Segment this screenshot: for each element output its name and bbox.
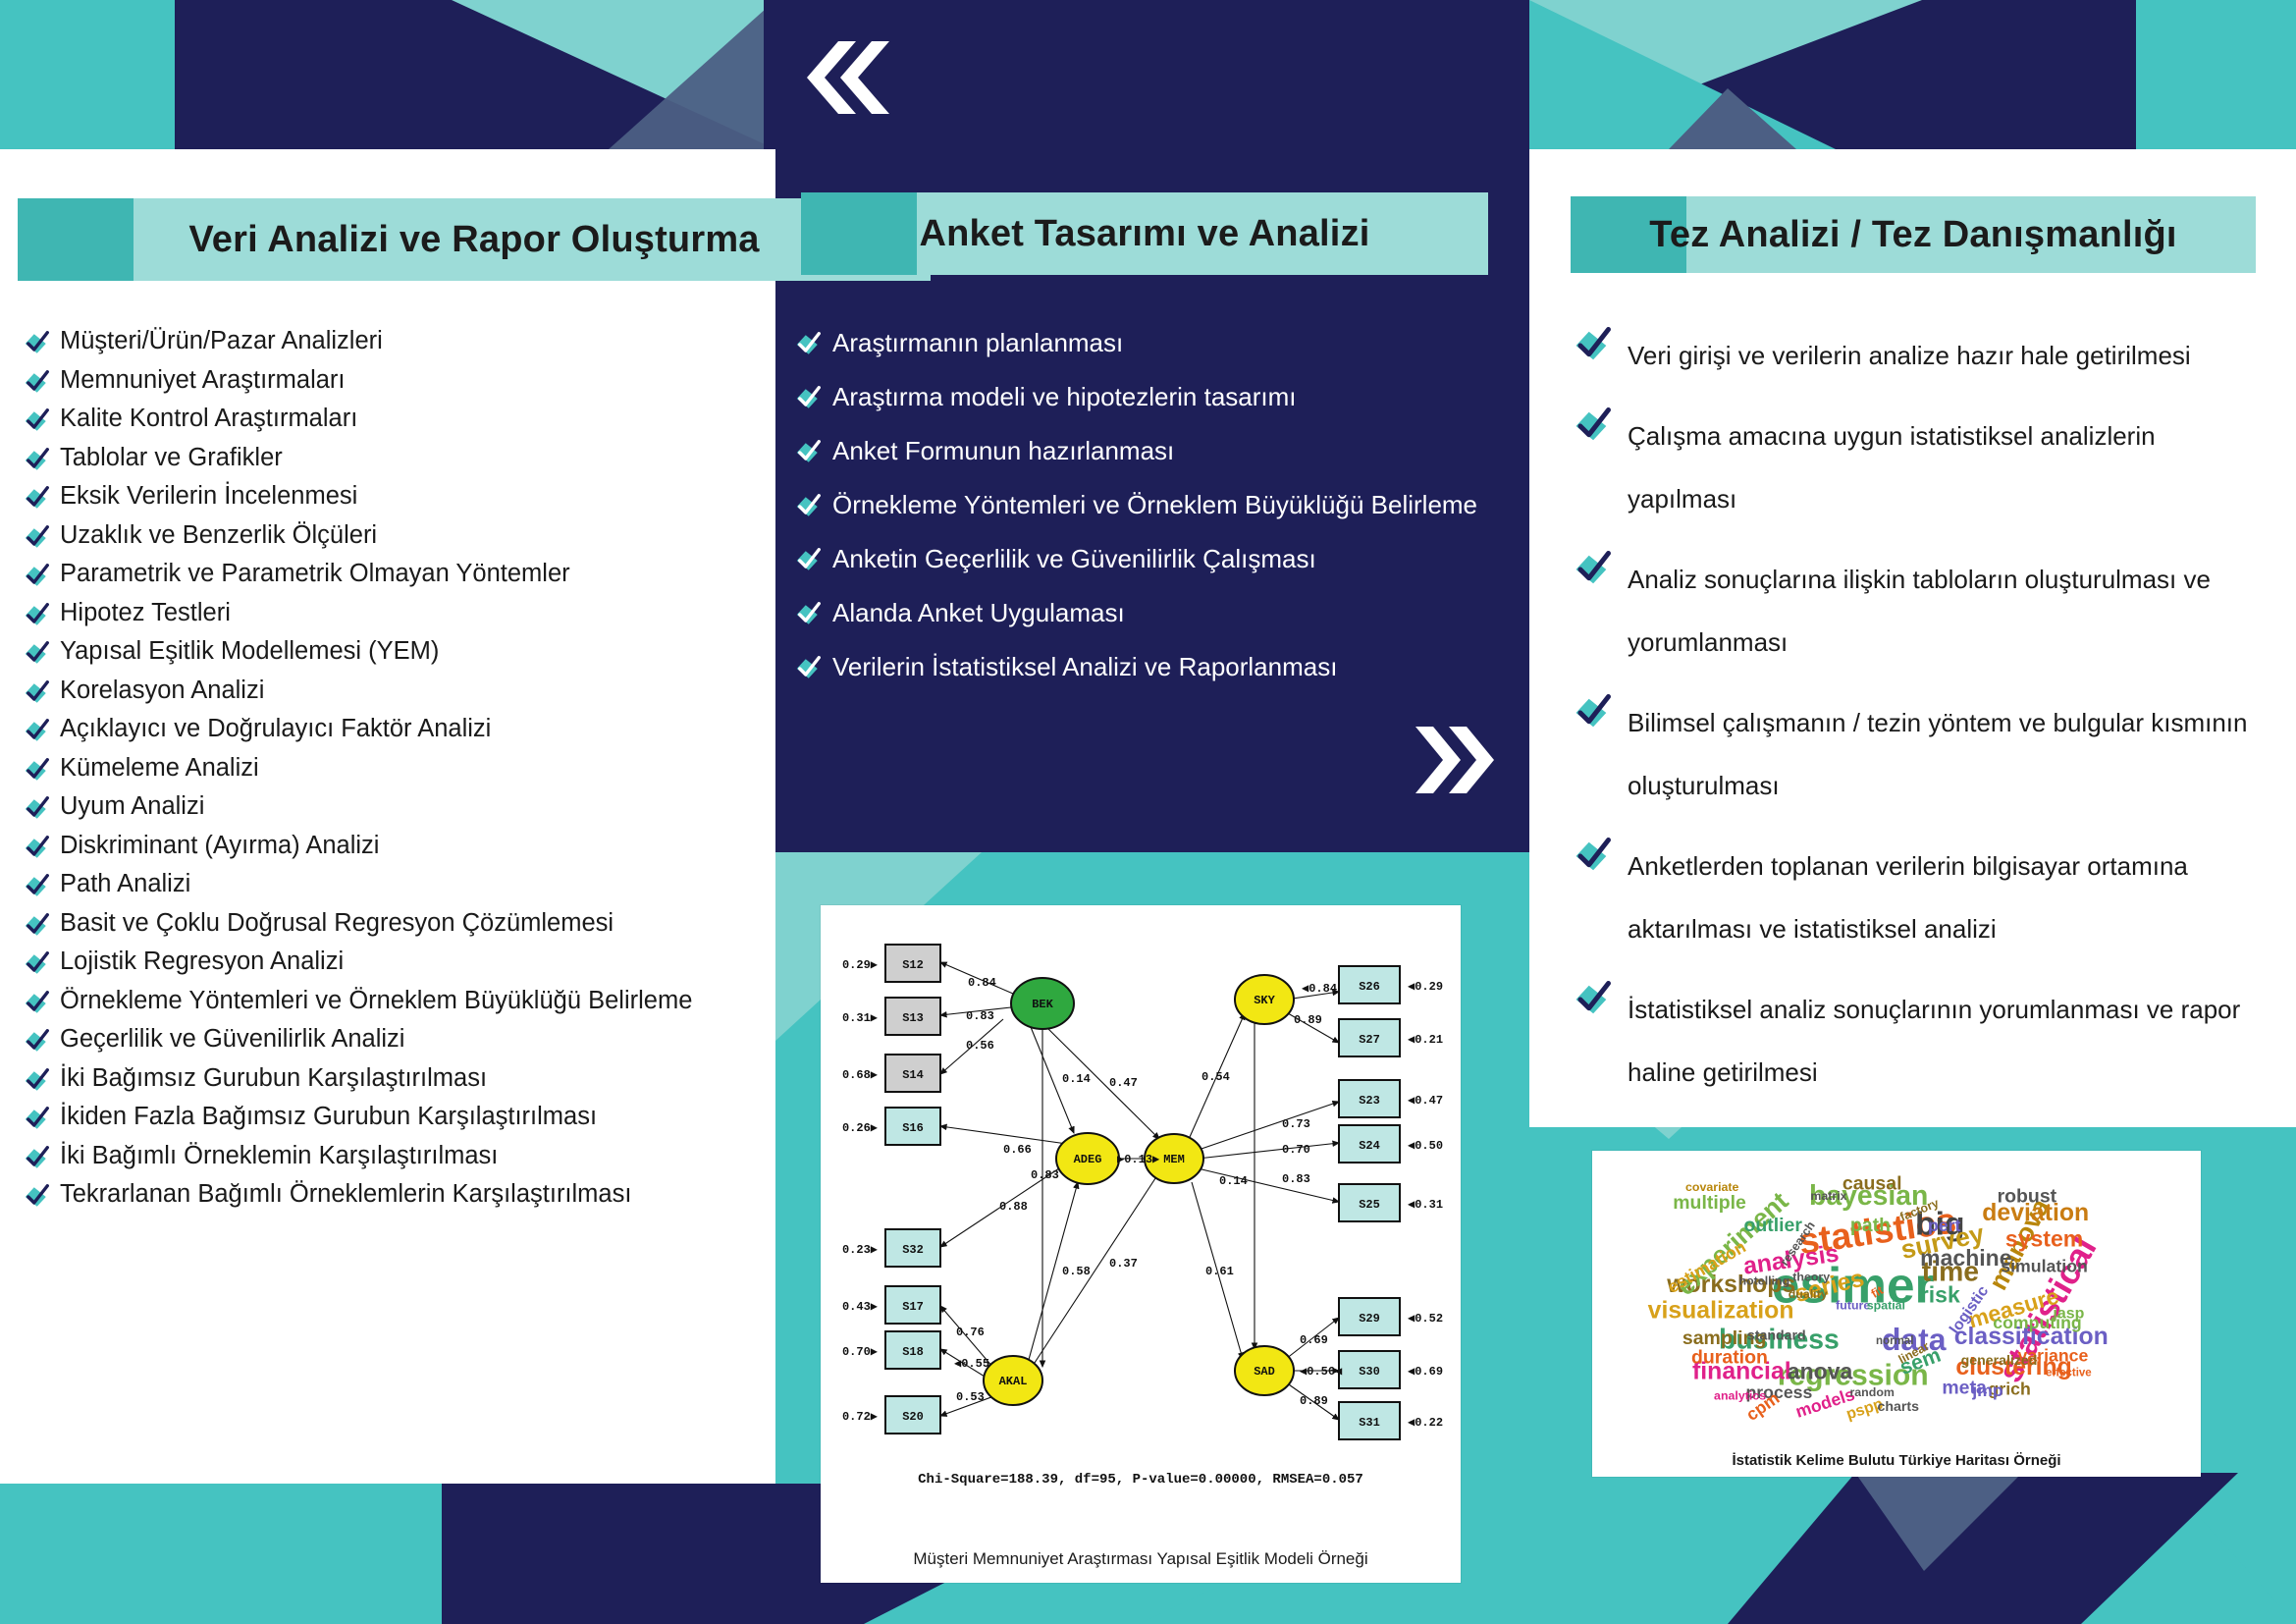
check-icon <box>793 385 823 412</box>
list-item-label: Yapısal Eşitlik Modellemesi (YEM) <box>60 637 439 665</box>
word-cloud-word: hotelling <box>1739 1274 1790 1288</box>
list-anket-tasarimi: Araştırmanın planlanmasıAraştırma modeli… <box>793 328 1500 706</box>
list-item-label: Müşteri/Ürün/Pazar Analizleri <box>60 327 383 354</box>
list-item[interactable]: Path Analizi <box>22 870 768 900</box>
sem-error-value: 0.43▶ <box>842 1300 879 1314</box>
list-item[interactable]: Parametrik ve Parametrik Olmayan Yönteml… <box>22 560 768 590</box>
sem-coefficient: 0.76 <box>956 1326 985 1339</box>
list-item-label: Geçerlilik ve Güvenilirlik Analizi <box>60 1025 404 1053</box>
check-icon <box>793 547 823 574</box>
check-icon <box>22 407 51 435</box>
column-title: Veri Analizi ve Rapor Oluşturma <box>18 219 931 261</box>
word-cloud-word: simulation <box>2001 1256 2088 1275</box>
word-cloud-word: visualization <box>1648 1297 1794 1324</box>
check-icon <box>1571 326 1614 365</box>
list-tez-analizi: Veri girişi ve verilerin analize hazır h… <box>1571 324 2258 1121</box>
check-icon <box>793 439 823 466</box>
sem-figure-caption: Müşteri Memnuniyet Araştırması Yapısal E… <box>821 1549 1461 1569</box>
sem-diagram-figure: S12 S13 S14 S16 S32 S17 S18 S20 S26 S27 … <box>821 905 1461 1583</box>
svg-text:SAD: SAD <box>1254 1365 1275 1379</box>
check-icon <box>22 1067 51 1095</box>
word-cloud-word: system <box>2005 1226 2083 1252</box>
sem-coefficient: ◀0.55 <box>954 1357 989 1371</box>
check-icon <box>1571 693 1614 732</box>
list-item[interactable]: Çalışma amacına uygun istatistiksel anal… <box>1571 405 2258 530</box>
check-icon <box>22 912 51 940</box>
list-item-label: Analiz sonuçlarına ilişkin tabloların ol… <box>1628 548 2258 674</box>
sem-error-value: ◀0.31 <box>1408 1198 1443 1212</box>
list-item-label: Uyum Analizi <box>60 792 204 820</box>
list-item-label: Kümeleme Analizi <box>60 754 259 782</box>
svg-text:BEK: BEK <box>1032 998 1053 1011</box>
sem-coefficient: 0.83 <box>966 1009 994 1023</box>
list-item-label: Kalite Kontrol Araştırmaları <box>60 405 357 432</box>
word-cloud-word: spatial <box>1867 1299 1905 1313</box>
sem-error-value: ◀0.52 <box>1408 1312 1443 1326</box>
word-cloud-word: risk <box>1920 1281 1960 1307</box>
check-icon <box>22 1106 51 1133</box>
check-icon <box>22 835 51 862</box>
check-icon <box>22 563 51 590</box>
sem-coefficient: 0.69 <box>1300 1333 1328 1347</box>
list-item-label: Alanda Anket Uygulaması <box>832 598 1125 627</box>
column-title: Tez Analizi / Tez Danışmanlığı <box>1571 214 2256 256</box>
word-cloud-word: duration <box>1691 1346 1768 1368</box>
sem-coefficient: 0.47 <box>1109 1076 1138 1090</box>
check-icon <box>793 331 823 358</box>
list-item-label: Anket Formunun hazırlanması <box>832 436 1174 465</box>
sem-error-value: 0.23▶ <box>842 1243 879 1257</box>
sem-coefficient: 0.53 <box>956 1390 985 1404</box>
word-cloud-word: charts <box>1878 1399 1920 1415</box>
check-icon <box>22 1028 51 1056</box>
sem-coefficient: 0.14 <box>1219 1174 1248 1188</box>
check-icon <box>22 524 51 552</box>
sem-error-value: 0.68▶ <box>842 1068 879 1082</box>
check-icon <box>22 640 51 668</box>
sem-coefficient: 0.61 <box>1205 1265 1234 1278</box>
sem-indicator-label: S31 <box>1359 1416 1380 1430</box>
list-item[interactable]: Uzaklık ve Benzerlik Ölçüleri <box>22 521 768 552</box>
sem-indicator-label: S24 <box>1359 1139 1380 1153</box>
sem-coefficient: 0.66 <box>1003 1143 1032 1157</box>
word-cloud-word: analytics <box>1714 1389 1766 1403</box>
sem-indicator-label: S13 <box>902 1011 924 1025</box>
check-icon <box>22 679 51 707</box>
word-cloud-canvas: esimerstatisticsstatisticalbigbayesianda… <box>1592 1151 2201 1445</box>
sem-error-value: ◀0.47 <box>1408 1094 1443 1108</box>
word-cloud-word: duality <box>1789 1287 1828 1301</box>
sem-diagram-canvas: S12 S13 S14 S16 S32 S17 S18 S20 S26 S27 … <box>821 905 1461 1534</box>
column-header-veri-analizi: Veri Analizi ve Rapor Oluşturma <box>18 198 931 281</box>
list-item[interactable]: Tablolar ve Grafikler <box>22 444 768 474</box>
list-item[interactable]: Veri girişi ve verilerin analize hazır h… <box>1571 324 2258 387</box>
list-item-label: Araştırmanın planlanması <box>832 328 1123 357</box>
sem-indicator-label: S29 <box>1359 1312 1380 1326</box>
svg-text:ADEG: ADEG <box>1074 1153 1102 1166</box>
list-item[interactable]: Açıklayıcı ve Doğrulayıcı Faktör Analizi <box>22 715 768 745</box>
svg-text:AKAL: AKAL <box>999 1375 1028 1388</box>
sem-coefficient: 0.14 <box>1062 1072 1091 1086</box>
sem-error-value: ◀0.69 <box>1408 1365 1443 1379</box>
list-item[interactable]: İkiden Fazla Bağımsız Gurubun Karşılaştı… <box>22 1103 768 1133</box>
check-icon <box>22 1145 51 1172</box>
check-icon <box>22 330 51 357</box>
sem-coefficient: 0.89 <box>1300 1394 1328 1408</box>
word-cloud-word: pert <box>1928 1216 1961 1235</box>
column-header-anket-tasarimi: Anket Tasarımı ve Analizi <box>801 192 1488 275</box>
sem-error-value: ◀0.22 <box>1408 1416 1443 1430</box>
double-chevron-right-icon <box>1412 725 1500 795</box>
list-item-label: Basit ve Çoklu Doğrusal Regresyon Çözüml… <box>60 909 614 937</box>
sem-indicator-label: S25 <box>1359 1198 1380 1212</box>
sem-coefficient: 0.88 <box>999 1200 1028 1214</box>
list-item-label: Tekrarlanan Bağımlı Örneklemlerin Karşıl… <box>60 1180 631 1208</box>
sem-coefficient: 0.89 <box>1294 1013 1322 1027</box>
list-item[interactable]: Diskriminant (Ayırma) Analizi <box>22 832 768 862</box>
sem-error-value: 0.70▶ <box>842 1345 879 1359</box>
sem-coefficient: 0.73 <box>1282 1117 1310 1131</box>
word-cloud-word: effective <box>2046 1368 2092 1380</box>
list-item-label: Araştırma modeli ve hipotezlerin tasarım… <box>832 382 1297 411</box>
sem-coefficient: 0.70 <box>1282 1143 1310 1157</box>
sem-coefficient: ◀0.56◀ <box>1300 1365 1343 1379</box>
list-item-label: Örnekleme Yöntemleri ve Örneklem Büyüklü… <box>832 490 1477 519</box>
list-item[interactable]: İki Bağımsız Gurubun Karşılaştırılması <box>22 1064 768 1095</box>
list-item-label: Lojistik Regresyon Analizi <box>60 947 344 975</box>
word-cloud-word: multiple <box>1673 1192 1746 1214</box>
sem-coefficient: 0.37 <box>1109 1257 1138 1271</box>
svg-text:MEM: MEM <box>1163 1153 1185 1166</box>
check-icon <box>1571 980 1614 1019</box>
check-icon <box>22 485 51 513</box>
list-item-label: Korelasyon Analizi <box>60 677 264 704</box>
check-icon <box>1571 406 1614 446</box>
sem-indicator-label: S32 <box>902 1243 924 1257</box>
list-item[interactable]: Tekrarlanan Bağımlı Örneklemlerin Karşıl… <box>22 1180 768 1211</box>
list-item-label: Eksik Verilerin İncelenmesi <box>60 482 357 510</box>
sem-indicator-label: S30 <box>1359 1365 1380 1379</box>
word-cloud-word: causal <box>1842 1172 1902 1194</box>
list-item[interactable]: Eksik Verilerin İncelenmesi <box>22 482 768 513</box>
word-cloud-word: outlier <box>1743 1215 1802 1236</box>
list-item-label: Path Analizi <box>60 870 190 897</box>
list-item[interactable]: Anketin Geçerlilik ve Güvenilirlik Çalış… <box>793 544 1500 574</box>
check-icon <box>22 757 51 785</box>
sem-indicator-label: S14 <box>902 1068 924 1082</box>
sem-indicator-label: S20 <box>902 1410 924 1424</box>
list-item[interactable]: İstatistiksel analiz sonuçlarının yoruml… <box>1571 978 2258 1104</box>
sem-error-value: ◀0.21 <box>1408 1033 1443 1047</box>
list-item-label: Anketlerden toplanan verilerin bilgisaya… <box>1628 835 2258 960</box>
check-icon <box>22 950 51 978</box>
list-item[interactable]: Memnuniyet Araştırmaları <box>22 366 768 397</box>
sem-indicator-label: S17 <box>902 1300 924 1314</box>
sem-coefficient: 0.83 <box>1031 1168 1059 1182</box>
list-item-label: Bilimsel çalışmanın / tezin yöntem ve bu… <box>1628 691 2258 817</box>
list-item-label: Anketin Geçerlilik ve Güvenilirlik Çalış… <box>832 544 1316 573</box>
sem-indicator-label: S12 <box>902 958 924 972</box>
list-item[interactable]: Araştırma modeli ve hipotezlerin tasarım… <box>793 382 1500 412</box>
check-icon <box>22 718 51 745</box>
word-cloud-word: theory <box>1792 1270 1830 1283</box>
list-item-label: Memnuniyet Araştırmaları <box>60 366 346 394</box>
sem-coefficient: ▶0.13▶ <box>1117 1153 1160 1166</box>
list-item[interactable]: Örnekleme Yöntemleri ve Örneklem Büyüklü… <box>793 490 1500 520</box>
check-icon <box>1571 837 1614 876</box>
sem-error-value: 0.29▶ <box>842 958 879 972</box>
check-icon <box>22 1183 51 1211</box>
list-item-label: İstatistiksel analiz sonuçlarının yoruml… <box>1628 978 2258 1104</box>
list-item-label: Açıklayıcı ve Doğrulayıcı Faktör Analizi <box>60 715 491 742</box>
list-item-label: Parametrik ve Parametrik Olmayan Yönteml… <box>60 560 570 587</box>
list-item[interactable]: Kalite Kontrol Araştırmaları <box>22 405 768 435</box>
list-item-label: Tablolar ve Grafikler <box>60 444 283 471</box>
sem-coefficient: 0.84 <box>968 976 996 990</box>
word-cloud-figure: esimerstatisticsstatisticalbigbayesianda… <box>1592 1151 2201 1477</box>
check-icon <box>22 873 51 900</box>
sem-indicator-label: S27 <box>1359 1033 1380 1047</box>
list-item[interactable]: Basit ve Çoklu Doğrusal Regresyon Çözüml… <box>22 909 768 940</box>
list-veri-analizi: Müşteri/Ürün/Pazar AnalizleriMemnuniyet … <box>22 327 768 1219</box>
list-item[interactable]: Geçerlilik ve Güvenilirlik Analizi <box>22 1025 768 1056</box>
top-right-teal-edge <box>2136 0 2296 149</box>
list-item[interactable]: Kümeleme Analizi <box>22 754 768 785</box>
list-item[interactable]: Uyum Analizi <box>22 792 768 823</box>
sem-coefficient: 0.54 <box>1201 1070 1230 1084</box>
list-item-label: Verilerin İstatistiksel Analizi ve Rapor… <box>832 652 1337 681</box>
list-item[interactable]: Yapısal Eşitlik Modellemesi (YEM) <box>22 637 768 668</box>
list-item-label: Örnekleme Yöntemleri ve Örneklem Büyüklü… <box>60 987 692 1014</box>
sem-fit-statistics: Chi-Square=188.39, df=95, P-value=0.0000… <box>918 1472 1363 1488</box>
sem-error-value: ◀0.29 <box>1408 980 1443 994</box>
sem-coefficient: 0.56 <box>966 1039 994 1053</box>
check-icon <box>22 990 51 1017</box>
list-item[interactable]: Anketlerden toplanan verilerin bilgisaya… <box>1571 835 2258 960</box>
list-item[interactable]: Örnekleme Yöntemleri ve Örneklem Büyüklü… <box>22 987 768 1017</box>
list-item-label: Diskriminant (Ayırma) Analizi <box>60 832 379 859</box>
double-chevron-left-icon <box>795 39 893 116</box>
list-item[interactable]: Hipotez Testleri <box>22 599 768 629</box>
word-cloud-word: generalized <box>1961 1353 2038 1369</box>
list-item[interactable]: Analiz sonuçlarına ilişkin tabloların ol… <box>1571 548 2258 674</box>
list-item[interactable]: Alanda Anket Uygulaması <box>793 598 1500 628</box>
word-cloud-word: anova <box>1788 1358 1853 1383</box>
check-icon <box>793 601 823 628</box>
list-item[interactable]: Korelasyon Analizi <box>22 677 768 707</box>
sem-error-value: 0.26▶ <box>842 1121 879 1135</box>
check-icon <box>793 493 823 520</box>
word-cloud-word: covariate <box>1685 1180 1739 1194</box>
list-item-label: Veri girişi ve verilerin analize hazır h… <box>1628 324 2191 387</box>
word-cloud-word: future <box>1836 1299 1870 1313</box>
sem-indicator-label: S23 <box>1359 1094 1380 1108</box>
list-item[interactable]: Bilimsel çalışmanın / tezin yöntem ve bu… <box>1571 691 2258 817</box>
list-item[interactable]: Anket Formunun hazırlanması <box>793 436 1500 466</box>
list-item-label: Çalışma amacına uygun istatistiksel anal… <box>1628 405 2258 530</box>
word-cloud-word: machine <box>1920 1245 2012 1271</box>
sem-error-value: 0.72▶ <box>842 1410 879 1424</box>
list-item-label: Hipotez Testleri <box>60 599 231 626</box>
word-cloud-word: normal <box>1876 1335 1913 1347</box>
sem-coefficient: ◀0.84 <box>1302 982 1337 996</box>
check-icon <box>22 369 51 397</box>
column-header-tez-analizi: Tez Analizi / Tez Danışmanlığı <box>1571 196 2256 273</box>
sem-indicator-label: S16 <box>902 1121 924 1135</box>
list-item-label: Uzaklık ve Benzerlik Ölçüleri <box>60 521 377 549</box>
word-cloud-word: jasp <box>2052 1305 2084 1322</box>
list-item[interactable]: Lojistik Regresyon Analizi <box>22 947 768 978</box>
word-cloud-caption: İstatistik Kelime Bulutu Türkiye Haritas… <box>1592 1452 2201 1469</box>
word-cloud-word: jmp <box>1971 1380 2003 1400</box>
check-icon <box>793 655 823 682</box>
sem-indicator-label: S18 <box>902 1345 924 1359</box>
sem-coefficient: 0.83 <box>1282 1172 1310 1186</box>
check-icon <box>1571 550 1614 589</box>
check-icon <box>22 795 51 823</box>
list-item[interactable]: İki Bağımlı Örneklemin Karşılaştırılması <box>22 1142 768 1172</box>
sem-coefficient: 0.58 <box>1062 1265 1091 1278</box>
word-cloud-word: standard <box>1747 1328 1806 1344</box>
word-cloud-word: robust <box>1998 1186 2057 1208</box>
list-item-label: İki Bağımsız Gurubun Karşılaştırılması <box>60 1064 487 1092</box>
word-cloud-word: random <box>1849 1385 1894 1399</box>
column-title: Anket Tasarımı ve Analizi <box>801 213 1488 255</box>
list-item-label: İki Bağımlı Örneklemin Karşılaştırılması <box>60 1142 498 1169</box>
sem-error-value: 0.31▶ <box>842 1011 879 1025</box>
list-item[interactable]: Araştırmanın planlanması <box>793 328 1500 358</box>
list-item[interactable]: Verilerin İstatistiksel Analizi ve Rapor… <box>793 652 1500 682</box>
list-item[interactable]: Müşteri/Ürün/Pazar Analizleri <box>22 327 768 357</box>
svg-text:SKY: SKY <box>1254 994 1275 1007</box>
list-item-label: İkiden Fazla Bağımsız Gurubun Karşılaştı… <box>60 1103 597 1130</box>
sem-error-value: ◀0.50 <box>1408 1139 1443 1153</box>
check-icon <box>22 447 51 474</box>
check-icon <box>22 602 51 629</box>
sem-indicator-label: S26 <box>1359 980 1380 994</box>
word-cloud-word: path <box>1850 1215 1891 1236</box>
word-cloud-word: matrix <box>1810 1189 1846 1203</box>
